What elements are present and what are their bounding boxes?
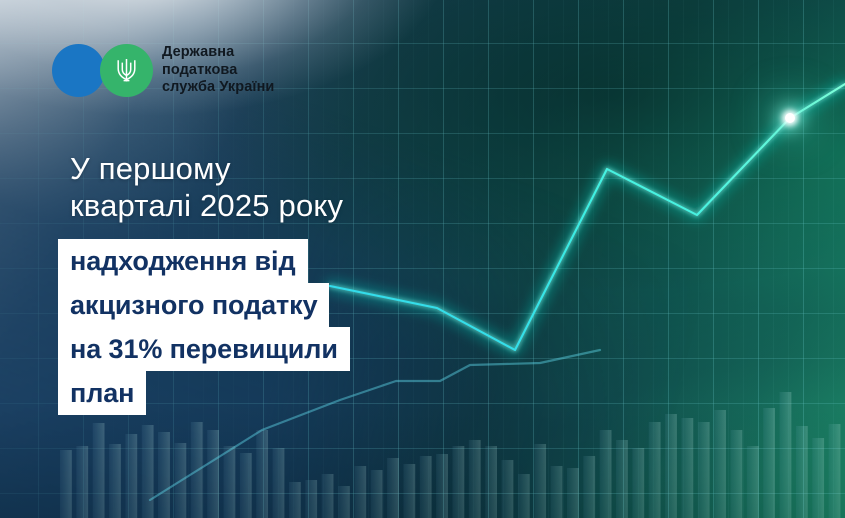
poster-canvas: Державна податкова служба України У перш…: [0, 0, 845, 518]
subheadline: надходження відакцизного податкуна 31% п…: [58, 239, 350, 415]
subheadline-line: на 31% перевищили: [58, 327, 350, 371]
chart-endpoint-glow: [785, 113, 795, 123]
agency-logo: Державна податкова служба України: [52, 44, 274, 97]
tryzub-icon: [115, 56, 138, 85]
logo-text: Державна податкова служба України: [162, 44, 274, 97]
headline: У першому кварталі 2025 року: [70, 150, 343, 224]
green-circle-icon: [100, 44, 153, 97]
blue-circle-icon: [52, 44, 105, 97]
subheadline-line: акцизного податку: [58, 283, 329, 327]
subheadline-line: план: [58, 371, 146, 415]
subheadline-line: надходження від: [58, 239, 308, 283]
logo-circles: [52, 44, 153, 97]
